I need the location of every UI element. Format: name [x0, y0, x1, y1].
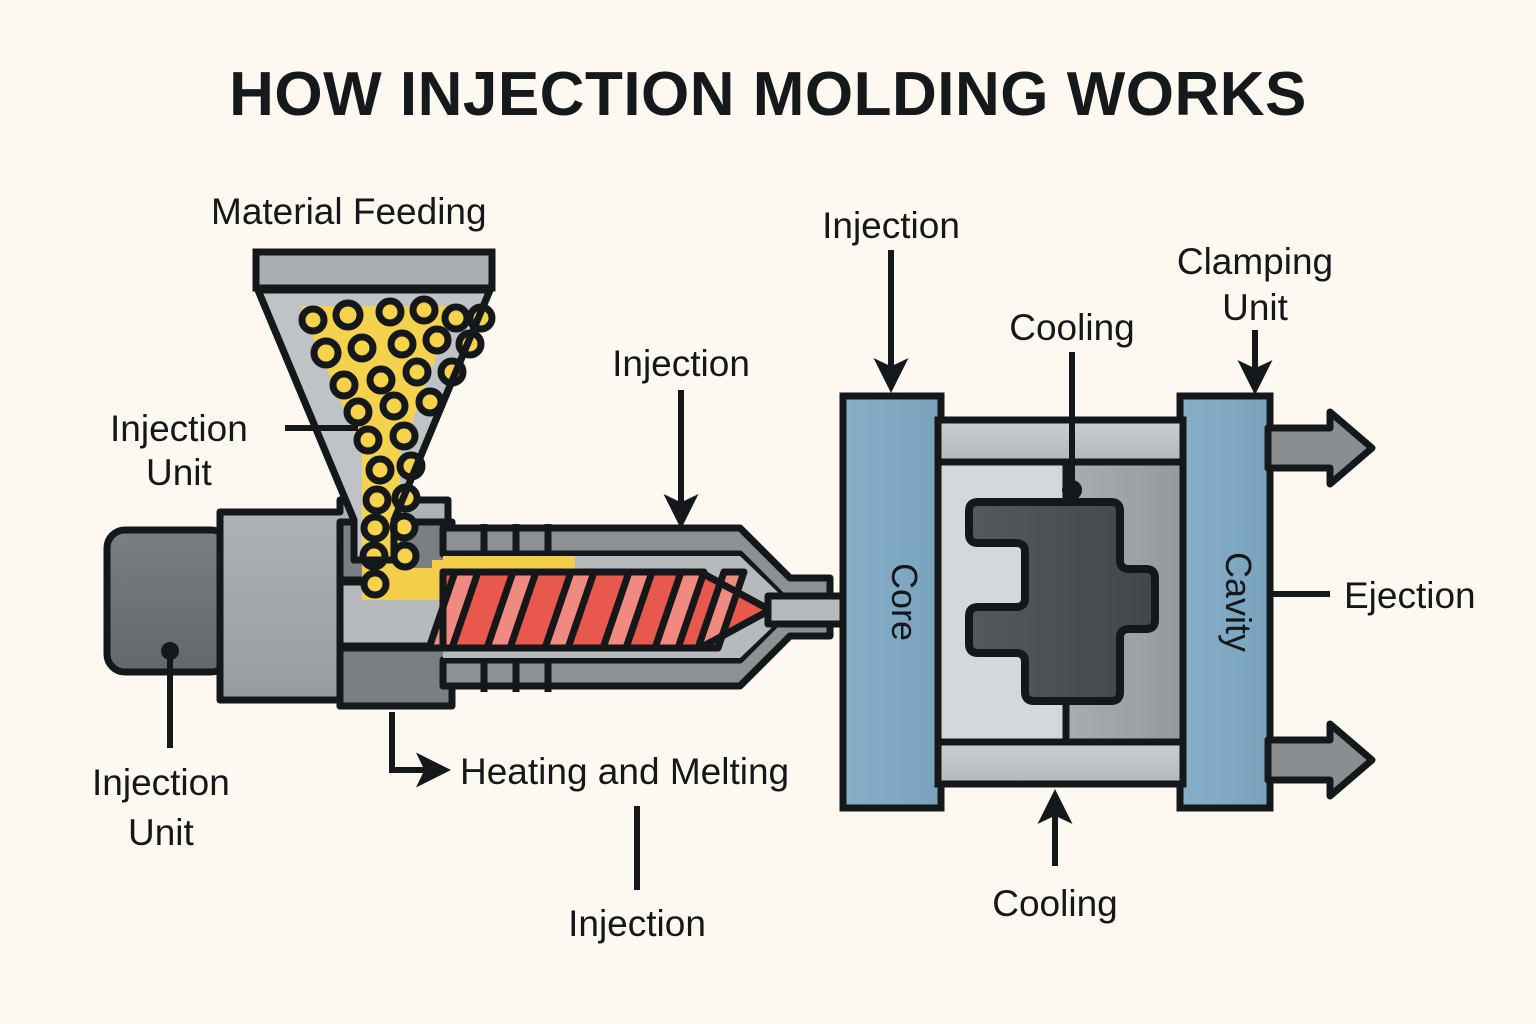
- label-injection-unit-top-line1: Injection: [110, 408, 248, 449]
- pellet: [391, 333, 413, 355]
- label-cooling-top: Cooling: [1009, 307, 1134, 348]
- label-injection-bottom: Injection: [568, 903, 706, 944]
- nozzle: [768, 596, 848, 624]
- label-cooling-bottom: Cooling: [992, 883, 1117, 924]
- pellet: [364, 517, 386, 539]
- label-heating-and-melting: Heating and Melting: [460, 751, 789, 792]
- hopper-cap: [256, 252, 492, 288]
- pellet: [406, 361, 428, 383]
- leader-dot-injection-unit-bottom: [161, 642, 179, 660]
- pellet: [302, 309, 324, 331]
- pellet: [351, 337, 373, 359]
- pellet: [369, 459, 391, 481]
- pellet: [366, 489, 388, 511]
- pellet: [379, 301, 401, 323]
- diagram-canvas: HOW INJECTION MOLDING WORKS: [0, 0, 1536, 1024]
- injection-unit-lower-step: [340, 648, 452, 706]
- label-cavity: Cavity: [1218, 552, 1259, 652]
- injection-molding-diagram: HOW INJECTION MOLDING WORKS: [0, 0, 1536, 1024]
- pellet: [347, 401, 369, 423]
- pellet: [370, 369, 392, 391]
- label-core: Core: [884, 563, 925, 641]
- label-ejection: Ejection: [1344, 575, 1476, 616]
- pellet: [363, 545, 385, 567]
- pellet: [426, 329, 448, 351]
- label-injection-unit-top-line2: Unit: [146, 452, 213, 493]
- pellet: [336, 303, 360, 327]
- pellet: [357, 429, 379, 451]
- label-material-feeding: Material Feeding: [211, 191, 487, 232]
- pellet: [393, 425, 415, 447]
- pellet: [413, 299, 435, 321]
- label-clamping-unit-line1: Clamping: [1177, 241, 1333, 282]
- label-injection-unit-bottom-line2: Unit: [128, 812, 195, 853]
- label-injection-mold: Injection: [822, 205, 960, 246]
- pellet: [314, 341, 338, 365]
- page-title: HOW INJECTION MOLDING WORKS: [229, 60, 1307, 129]
- label-injection-unit-bottom-line1: Injection: [92, 762, 230, 803]
- label-injection-barrel: Injection: [612, 343, 750, 384]
- mold-bottom-bar: [938, 742, 1183, 784]
- mold-top-bar: [938, 420, 1183, 462]
- pellet: [383, 395, 405, 417]
- pellet: [364, 573, 386, 595]
- pellet: [333, 374, 355, 396]
- cooling-channel-point: [1062, 480, 1082, 500]
- pellet: [445, 307, 467, 329]
- label-clamping-unit-line2: Unit: [1222, 287, 1289, 328]
